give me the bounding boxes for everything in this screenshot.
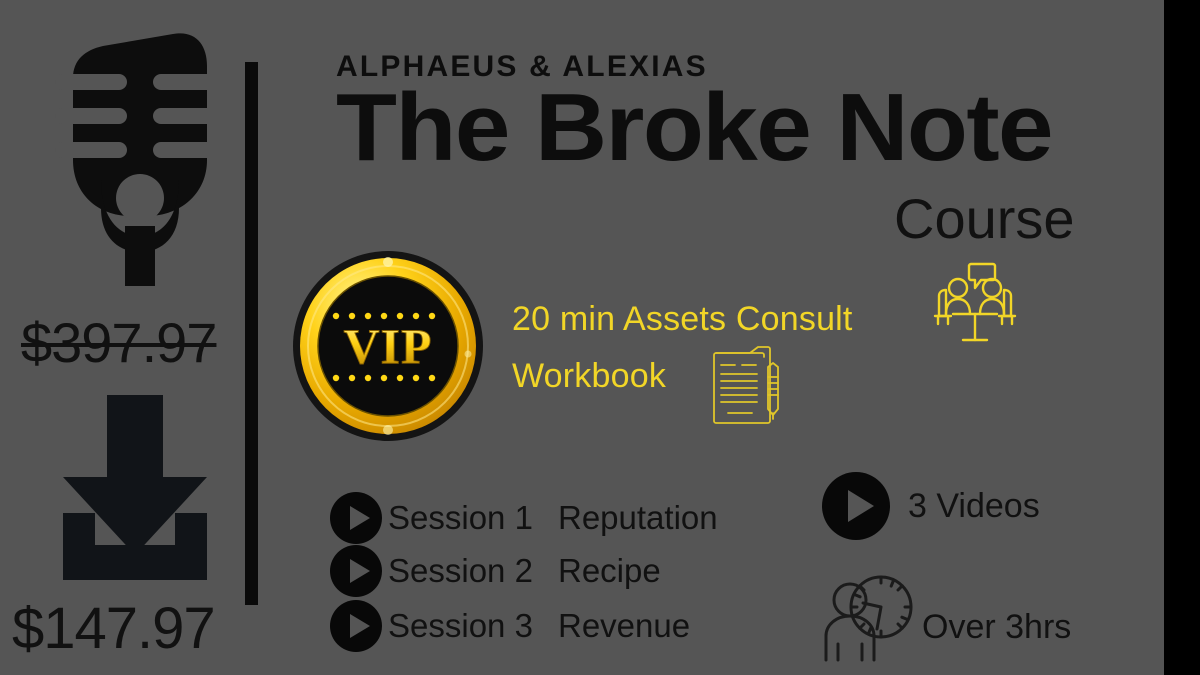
vip-badge-label: VIP (343, 318, 432, 374)
session-label: Session 3 (388, 607, 558, 645)
stat-label-videos: 3 Videos (908, 487, 1040, 526)
stat-label-duration: Over 3hrs (922, 608, 1071, 647)
consultation-icon (929, 258, 1021, 350)
list-item[interactable]: Session 1 Reputation (330, 492, 718, 544)
session-topic: Reputation (558, 499, 718, 537)
vip-medallion-icon: VIP (292, 250, 484, 442)
promo-graphic: $397.97 $147.97 ALPHAEUS & ALEXIAS The B… (0, 0, 1200, 675)
stat-duration: Over 3hrs (818, 562, 1071, 662)
play-icon[interactable] (330, 545, 382, 597)
download-arrow-icon (55, 395, 215, 580)
person-clock-icon (818, 562, 918, 662)
original-price: $397.97 (21, 310, 216, 375)
list-item[interactable]: Session 2 Recipe (330, 545, 661, 597)
perk-label-workbook: Workbook (512, 357, 666, 396)
session-topic: Revenue (558, 607, 690, 645)
perk-label-consult: 20 min Assets Consult (512, 300, 853, 339)
vertical-divider (245, 62, 258, 605)
sale-price: $147.97 (12, 595, 215, 662)
vintage-microphone-icon (55, 30, 225, 290)
right-edge-bar (1164, 0, 1200, 675)
notepad-pen-icon (710, 343, 784, 427)
list-item[interactable]: Session 3 Revenue (330, 600, 690, 652)
play-icon[interactable] (330, 492, 382, 544)
session-topic: Recipe (558, 552, 661, 590)
page-title: The Broke Note (336, 76, 1052, 180)
session-label: Session 1 (388, 499, 558, 537)
stat-video-count: 3 Videos (822, 472, 1040, 540)
session-label: Session 2 (388, 552, 558, 590)
play-icon[interactable] (822, 472, 890, 540)
page-subtitle: Course (894, 186, 1075, 251)
play-icon[interactable] (330, 600, 382, 652)
